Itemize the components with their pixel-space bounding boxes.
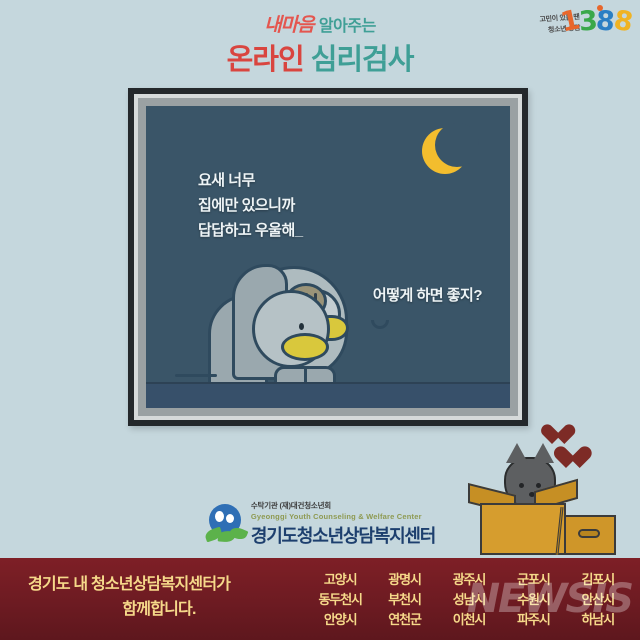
cat-ear-right <box>532 443 554 463</box>
bird-small-beak <box>281 333 329 361</box>
headline-title: 온라인 심리검사 <box>0 41 640 79</box>
city-item: 군포시 <box>501 570 565 589</box>
org-supervising-agency: 수탁기관 (재)대건청소년회 <box>251 500 435 511</box>
floor-line <box>146 382 510 408</box>
bird-large-mouth <box>371 320 389 329</box>
city-item: 김포시 <box>566 570 630 589</box>
speech-line-3: 답답하고 우울해_ <box>198 222 303 239</box>
organization-emblem-icon <box>205 504 245 542</box>
city-item: 파주시 <box>501 610 565 629</box>
city-item: 안양시 <box>308 610 372 629</box>
city-item: 수원시 <box>501 590 565 609</box>
org-name-korean: 경기도청소년상담복지센터 <box>251 522 435 548</box>
cat-eye-left <box>519 483 524 488</box>
poster-root: 고민이 있을 땐 청소년 상담 1388 내마음 알아주는 온라인 심리검사 요… <box>0 0 640 640</box>
city-item: 성남시 <box>437 590 501 609</box>
speech-text-primary: 요새 너무 집에만 있으니까 답답하고 우울해_ <box>198 168 303 243</box>
cat-ear-left <box>506 443 528 463</box>
footer-message-line2: 함께합니다. <box>28 597 290 622</box>
city-item: 고양시 <box>308 570 372 589</box>
bird-characters <box>208 246 408 386</box>
city-item: 광명시 <box>372 570 436 589</box>
headline-subtitle-accent: 내마음 <box>264 15 313 36</box>
org-name-english: Gyeonggi Youth Counseling & Welfare Cent… <box>251 512 435 521</box>
city-item: 하남시 <box>566 610 630 629</box>
crescent-moon-icon <box>422 128 468 174</box>
headline-title-rest: 심리검사 <box>311 44 414 76</box>
footer-banner: 경기도 내 청소년상담복지센터가 함께합니다. 고양시 광명시 광주시 군포시 … <box>0 558 640 640</box>
footer-message-line1: 경기도 내 청소년상담복지센터가 <box>28 572 290 597</box>
picture-frame: 요새 너무 집에만 있으니까 답답하고 우울해_ 어떻게 하면 좋지? <box>128 88 528 426</box>
headline-subtitle: 내마음 알아주는 <box>0 14 640 39</box>
city-item: 연천군 <box>372 610 436 629</box>
footer-message: 경기도 내 청소년상담복지센터가 함께합니다. <box>28 572 290 622</box>
frame-mat: 요새 너무 집에만 있으니까 답답하고 우울해_ 어떻게 하면 좋지? <box>138 98 518 416</box>
headline: 내마음 알아주는 온라인 심리검사 <box>0 14 640 79</box>
city-item: 안산시 <box>566 590 630 609</box>
speech-line-1: 요새 너무 <box>198 172 255 189</box>
city-item: 이천시 <box>437 610 501 629</box>
bird-small <box>252 290 330 368</box>
cat-eye-right <box>536 483 541 488</box>
city-item: 부천시 <box>372 590 436 609</box>
headline-title-accent: 온라인 <box>227 44 304 76</box>
illustration-canvas: 요새 너무 집에만 있으니까 답답하고 우울해_ 어떻게 하면 좋지? <box>146 106 510 408</box>
city-item: 동두천시 <box>308 590 372 609</box>
city-item: 광주시 <box>437 570 501 589</box>
speech-line-2: 집에만 있으니까 <box>198 197 295 214</box>
frame-inner-border: 요새 너무 집에만 있으니까 답답하고 우울해_ 어떻게 하면 좋지? <box>134 94 522 420</box>
city-list: 고양시 광명시 광주시 군포시 김포시 동두천시 부천시 성남시 수원시 안산시… <box>308 570 630 629</box>
headline-subtitle-rest: 알아주는 <box>319 18 376 35</box>
organization-logo: 수탁기관 (재)대건청소년회 Gyeonggi Youth Counseling… <box>0 500 640 548</box>
